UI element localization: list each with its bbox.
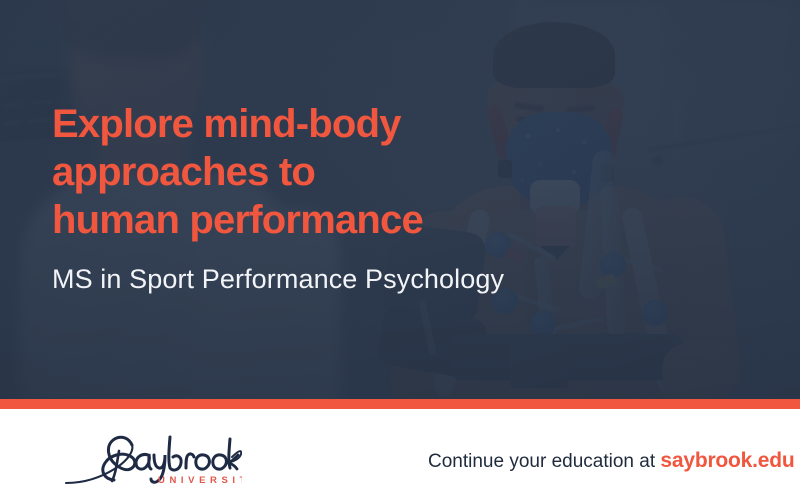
saybrook-university-logo[interactable]: UNIVERSITY [62, 427, 242, 489]
headline-line-2: approaches to [52, 148, 522, 196]
footer-cta-url[interactable]: saybrook.edu [660, 449, 794, 472]
headline: Explore mind-body approaches to human pe… [52, 100, 522, 244]
headline-line-1: Explore mind-body [52, 100, 522, 148]
logo-subtext: UNIVERSITY [158, 475, 242, 486]
hero-copy-block: Explore mind-body approaches to human pe… [52, 100, 522, 296]
advertisement-banner: Explore mind-body approaches to human pe… [0, 0, 800, 500]
accent-stripe [0, 399, 800, 409]
footer-cta[interactable]: Continue your education at saybrook.edu [428, 449, 795, 473]
footer-cta-prefix: Continue your education at [428, 451, 660, 472]
hero-section: Explore mind-body approaches to human pe… [0, 0, 800, 399]
subheadline: MS in Sport Performance Psychology [52, 262, 522, 296]
footer-bar: UNIVERSITY Continue your education at sa… [0, 409, 800, 500]
headline-line-3: human performance [52, 196, 522, 244]
